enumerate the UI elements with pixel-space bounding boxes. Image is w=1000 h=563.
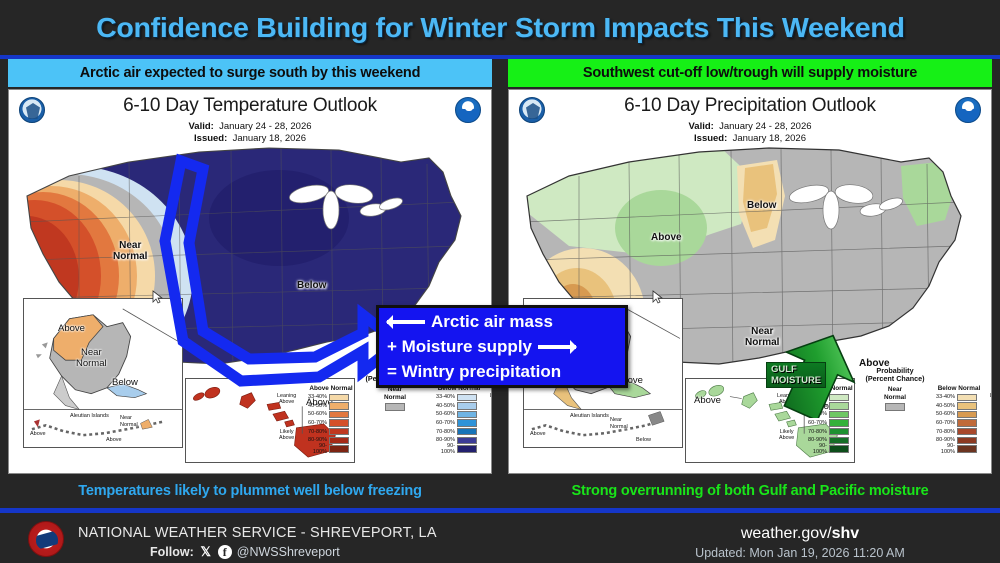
temp-legend-below-swatch	[457, 428, 477, 435]
banner-right: Southwest cut-off low/trough will supply…	[508, 59, 992, 87]
temp-legend-below-row: 50-60%	[433, 410, 485, 419]
aleutian-islands-title: Aleutian Islands	[570, 413, 609, 419]
temp-legend-above-row: 70-80%	[305, 427, 357, 436]
precip-label-below-mn: Below	[747, 200, 776, 211]
temp-legend-below-swatch	[457, 394, 477, 401]
temp-legend-below-row: 60-70%	[433, 419, 485, 428]
temp-legend-below-bin-label: 90-100%	[433, 443, 457, 455]
page-title: Confidence Building for Winter Storm Imp…	[96, 12, 905, 44]
temp-legend-above-bin-label: 70-80%	[305, 429, 329, 435]
temp-legend-below-swatch	[457, 402, 477, 409]
precip-label-above-nplains: Above	[651, 232, 682, 243]
temp-legend-below-bin-label: 50-60%	[433, 411, 457, 417]
aleutian-precip-label-near-normal: NearNormal	[610, 417, 628, 431]
legend-near-header2: Normal	[878, 394, 912, 401]
precip-legend-below-swatch	[957, 394, 977, 401]
arrow-right-icon	[538, 345, 576, 349]
temp-legend-below-bin-label: 40-50%	[433, 403, 457, 409]
footer: NATIONAL WEATHER SERVICE - SHREVEPORT, L…	[0, 513, 1000, 563]
temp-legend-above-row: 90-100%	[305, 445, 357, 454]
temp-legend-above-swatch	[329, 445, 349, 452]
precip-legend-above-row: 90-100%	[805, 445, 857, 454]
caption-left: Temperatures likely to plummet well belo…	[8, 478, 492, 504]
precip-legend-below-bin-label: 90-100%	[933, 443, 957, 455]
temp-legend-below-swatch	[457, 411, 477, 418]
precip-legend-below-row: 60-70%	[933, 419, 985, 428]
temp-legend-below-swatch	[457, 445, 477, 452]
caption-left-text: Temperatures likely to plummet well belo…	[78, 483, 421, 499]
precip-legend-below-bin-label: 70-80%	[933, 429, 957, 435]
aleutian-precip-label-above: Above	[530, 431, 546, 437]
callout-line-2-text: + Moisture supply	[387, 334, 532, 359]
precip-legend-below-row: 50-60%	[933, 410, 985, 419]
cursor-pointer-icon	[152, 290, 163, 304]
temp-legend-above-swatch	[329, 437, 349, 444]
temp-legend-above-row: 60-70%	[305, 419, 357, 428]
legend-below-header: Below Normal	[933, 385, 985, 392]
legend-brace-likely-above: LikelyAbove	[279, 429, 294, 441]
aleutian-islands-title: Aleutian Islands	[70, 413, 109, 419]
follow-label: Follow:	[150, 545, 194, 559]
banner-left-text: Arctic air expected to surge south by th…	[80, 65, 421, 81]
temp-legend-above-swatch	[329, 428, 349, 435]
valid-value: January 24 - 28, 2026	[219, 121, 311, 132]
precip-legend-below-row: 70-80%	[933, 427, 985, 436]
x-twitter-icon[interactable]: 𝕏	[199, 545, 213, 559]
precip-legend-above-bin-label: 90-100%	[805, 443, 829, 455]
caption-right-text: Strong overrunning of both Gulf and Paci…	[572, 483, 929, 499]
footer-office-name: NATIONAL WEATHER SERVICE - SHREVEPORT, L…	[78, 525, 437, 541]
gulf-moisture-label: GULF MOISTURE	[766, 362, 826, 388]
temp-legend-below-swatch	[457, 437, 477, 444]
temp-legend-below-swatch	[457, 419, 477, 426]
ak-label-near-normal: NearNormal	[76, 347, 107, 369]
arrow-left-icon	[387, 320, 425, 324]
callout-line-2: + Moisture supply	[387, 334, 617, 359]
legend-near-swatch	[885, 403, 905, 411]
temp-legend-below-bin-label: 33-40%	[433, 394, 457, 400]
temperature-label-near-normal: NearNormal	[113, 240, 147, 262]
callout-line-3: = Wintry precipitation	[387, 359, 617, 384]
legend-below-column: Below Normal 33-40%40-50%50-60%60-70%70-…	[433, 385, 485, 453]
precip-legend-above-row: 60-70%	[805, 419, 857, 428]
legend-brace-leaning-below: LeaningBelow	[990, 393, 992, 405]
callout-line-1-text: Arctic air mass	[431, 309, 553, 334]
valid-label: Valid:	[688, 121, 713, 132]
blue-surge-arrow	[149, 145, 409, 405]
title-bar: Confidence Building for Winter Storm Imp…	[0, 0, 1000, 55]
legend-brace-leaning-below: LeaningBelow	[490, 393, 492, 405]
caption-right: Strong overrunning of both Gulf and Paci…	[508, 478, 992, 504]
callout-box: Arctic air mass + Moisture supply = Wint…	[376, 305, 628, 388]
temp-legend-above-swatch	[329, 419, 349, 426]
temp-legend-above-row: 50-60%	[305, 410, 357, 419]
precip-legend-above-swatch	[829, 419, 849, 426]
footer-updated: Updated: Mon Jan 19, 2026 11:20 AM	[600, 546, 1000, 560]
legend-near-column: Near Normal	[878, 385, 912, 411]
precip-legend-above-row: 70-80%	[805, 427, 857, 436]
legend-below-column: Below Normal 33-40%40-50%50-60%60-70%70-…	[933, 385, 985, 453]
temp-legend-above-swatch	[329, 411, 349, 418]
precip-legend-above-swatch	[829, 445, 849, 452]
temp-legend-below-row: 70-80%	[433, 427, 485, 436]
precip-legend-below-swatch	[957, 411, 977, 418]
ak-label-below: Below	[112, 377, 138, 388]
precip-legend-below-row: 40-50%	[933, 402, 985, 411]
aleutian-label-above-1: Above	[30, 431, 46, 437]
aleutian-precip-label-below: Below	[636, 437, 651, 443]
callout-line-1: Arctic air mass	[387, 309, 617, 334]
ak-label-above: Above	[58, 323, 85, 334]
temp-legend-below-bin-label: 70-80%	[433, 429, 457, 435]
precip-legend-below-swatch	[957, 437, 977, 444]
temp-legend-above-bin-label: 50-60%	[305, 411, 329, 417]
footer-follow: Follow: 𝕏 f @NWSShreveport	[150, 545, 340, 559]
legend-brace-likely-above: LikelyAbove	[779, 429, 794, 441]
precip-legend-below-swatch	[957, 428, 977, 435]
precip-legend-above-swatch	[829, 428, 849, 435]
aleutian-label-near-normal: NearNormal	[120, 415, 138, 429]
temp-legend-below-row: 90-100%	[433, 445, 485, 454]
precip-legend-below-swatch	[957, 402, 977, 409]
temp-legend-below-bin-label: 60-70%	[433, 420, 457, 426]
precip-legend-below-bin-label: 33-40%	[933, 394, 957, 400]
precip-legend-above-swatch	[829, 437, 849, 444]
precip-legend-below-bin-label: 40-50%	[933, 403, 957, 409]
facebook-icon[interactable]: f	[218, 545, 232, 559]
precip-legend-below-bin-label: 60-70%	[933, 420, 957, 426]
footer-url-prefix: weather.gov/	[741, 525, 832, 542]
temperature-outlook-panel: 6-10 Day Temperature Outlook Valid: Janu…	[8, 89, 492, 474]
legend-near-header: Near	[878, 386, 912, 393]
temperature-map-title: 6-10 Day Temperature Outlook	[9, 95, 491, 117]
precip-legend-below-swatch	[957, 445, 977, 452]
weather-graphic: Confidence Building for Winter Storm Imp…	[0, 0, 1000, 563]
nws-logo-icon	[28, 521, 64, 557]
callout-line-3-text: = Wintry precipitation	[387, 359, 561, 384]
aleutian-label-above-2: Above	[106, 437, 122, 443]
temp-legend-above-bin-label: 90-100%	[305, 443, 329, 455]
footer-handle[interactable]: @NWSShreveport	[237, 545, 340, 559]
hi-precip-label-above-1: Above	[694, 395, 721, 406]
footer-url-suffix: shv	[832, 525, 860, 542]
precipitation-outlook-panel: 6-10 Day Precipitation Outlook Valid: Ja…	[508, 89, 992, 474]
temp-legend-below-row: 33-40%	[433, 393, 485, 402]
gulf-moisture-line2: MOISTURE	[771, 375, 821, 386]
valid-value: January 24 - 28, 2026	[719, 121, 811, 132]
precipitation-map-title: 6-10 Day Precipitation Outlook	[509, 95, 991, 117]
footer-url[interactable]: weather.gov/shv	[600, 525, 1000, 543]
temp-legend-below-row: 40-50%	[433, 402, 485, 411]
temp-legend-above-bin-label: 60-70%	[305, 420, 329, 426]
valid-label: Valid:	[188, 121, 213, 132]
gulf-moisture-line1: GULF	[771, 364, 821, 375]
precip-legend-below-bin-label: 50-60%	[933, 411, 957, 417]
precip-legend-above-bin-label: 60-70%	[805, 420, 829, 426]
cursor-pointer-icon	[652, 290, 663, 304]
banner-left: Arctic air expected to surge south by th…	[8, 59, 492, 87]
precip-legend-below-row: 33-40%	[933, 393, 985, 402]
precip-legend-below-swatch	[957, 419, 977, 426]
banner-right-text: Southwest cut-off low/trough will supply…	[583, 65, 917, 81]
precip-legend-below-row: 90-100%	[933, 445, 985, 454]
precip-legend-above-bin-label: 70-80%	[805, 429, 829, 435]
